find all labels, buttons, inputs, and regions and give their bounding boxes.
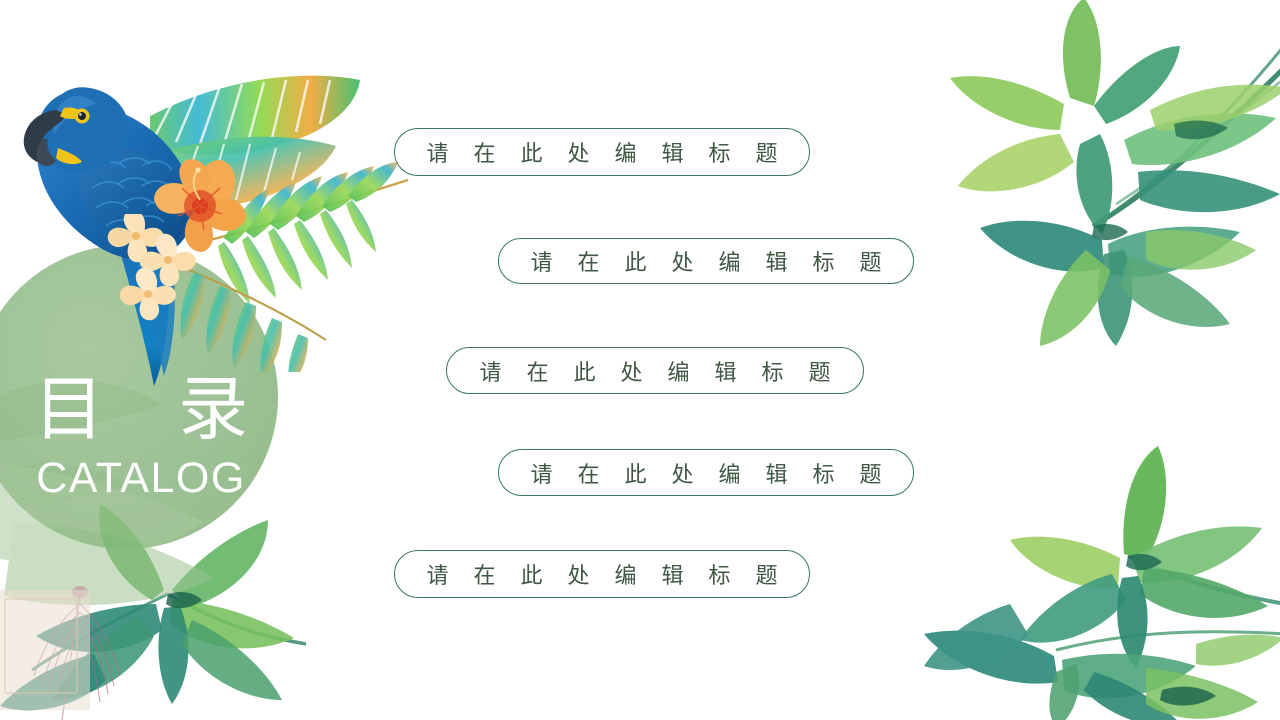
menu-item-1[interactable]: 请 在 此 处 编 辑 标 题 <box>394 128 810 176</box>
pink-feather-sprig <box>22 586 142 720</box>
menu-item-5-label: 请 在 此 处 编 辑 标 题 <box>418 558 787 590</box>
plant-top-right <box>888 0 1280 354</box>
beige-frame-ghost <box>0 590 90 710</box>
beige-frame-ghost-inner <box>4 598 78 694</box>
plant-bottom-right <box>906 428 1280 720</box>
slide-canvas: 目 录 CATALOG 请 在 此 处 编 辑 标 题 请 在 此 处 编 辑 … <box>0 0 1280 720</box>
menu-item-5[interactable]: 请 在 此 处 编 辑 标 题 <box>394 550 810 598</box>
menu-item-3-label: 请 在 此 处 编 辑 标 题 <box>471 355 840 387</box>
menu-item-1-label: 请 在 此 处 编 辑 标 题 <box>418 136 787 168</box>
menu-item-2[interactable]: 请 在 此 处 编 辑 标 题 <box>498 238 914 284</box>
menu-item-3[interactable]: 请 在 此 处 编 辑 标 题 <box>446 347 864 394</box>
menu-item-4-label: 请 在 此 处 编 辑 标 题 <box>522 457 891 489</box>
catalog-title-block: 目 录 CATALOG <box>0 372 282 502</box>
menu-item-4[interactable]: 请 在 此 处 编 辑 标 题 <box>498 449 914 496</box>
catalog-title-en: CATALOG <box>0 454 282 502</box>
orange-hibiscus-flower <box>152 158 248 254</box>
catalog-title-cn: 目 录 <box>0 372 282 446</box>
menu-item-2-label: 请 在 此 处 编 辑 标 题 <box>522 245 891 277</box>
